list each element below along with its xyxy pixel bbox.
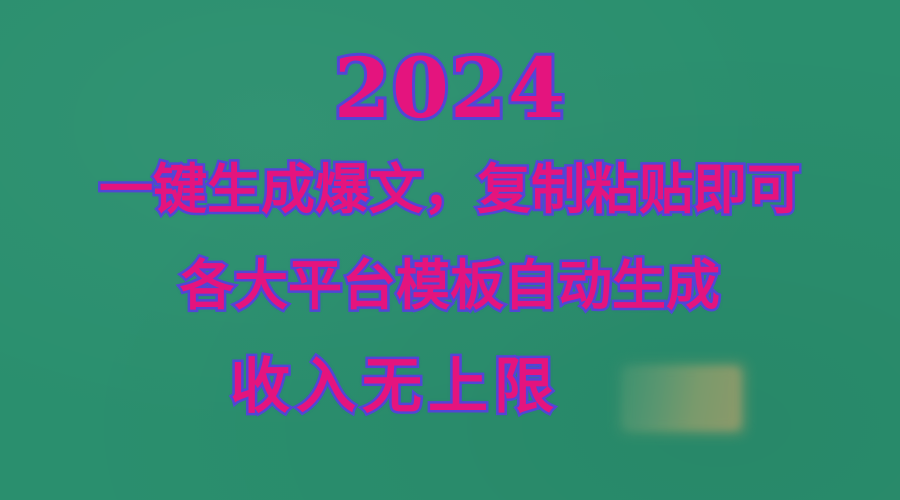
headline-line-3: 各大平台模板自动生成 — [0, 259, 900, 313]
promo-poster: 2024 一键生成爆文，复制粘贴即可 各大平台模板自动生成 收入无上限 — [0, 0, 900, 500]
blur-censor-overlay-core — [626, 369, 738, 428]
headline-year: 2024 — [0, 48, 900, 130]
headline-line-2: 一键生成爆文，复制粘贴即可 — [0, 163, 900, 217]
